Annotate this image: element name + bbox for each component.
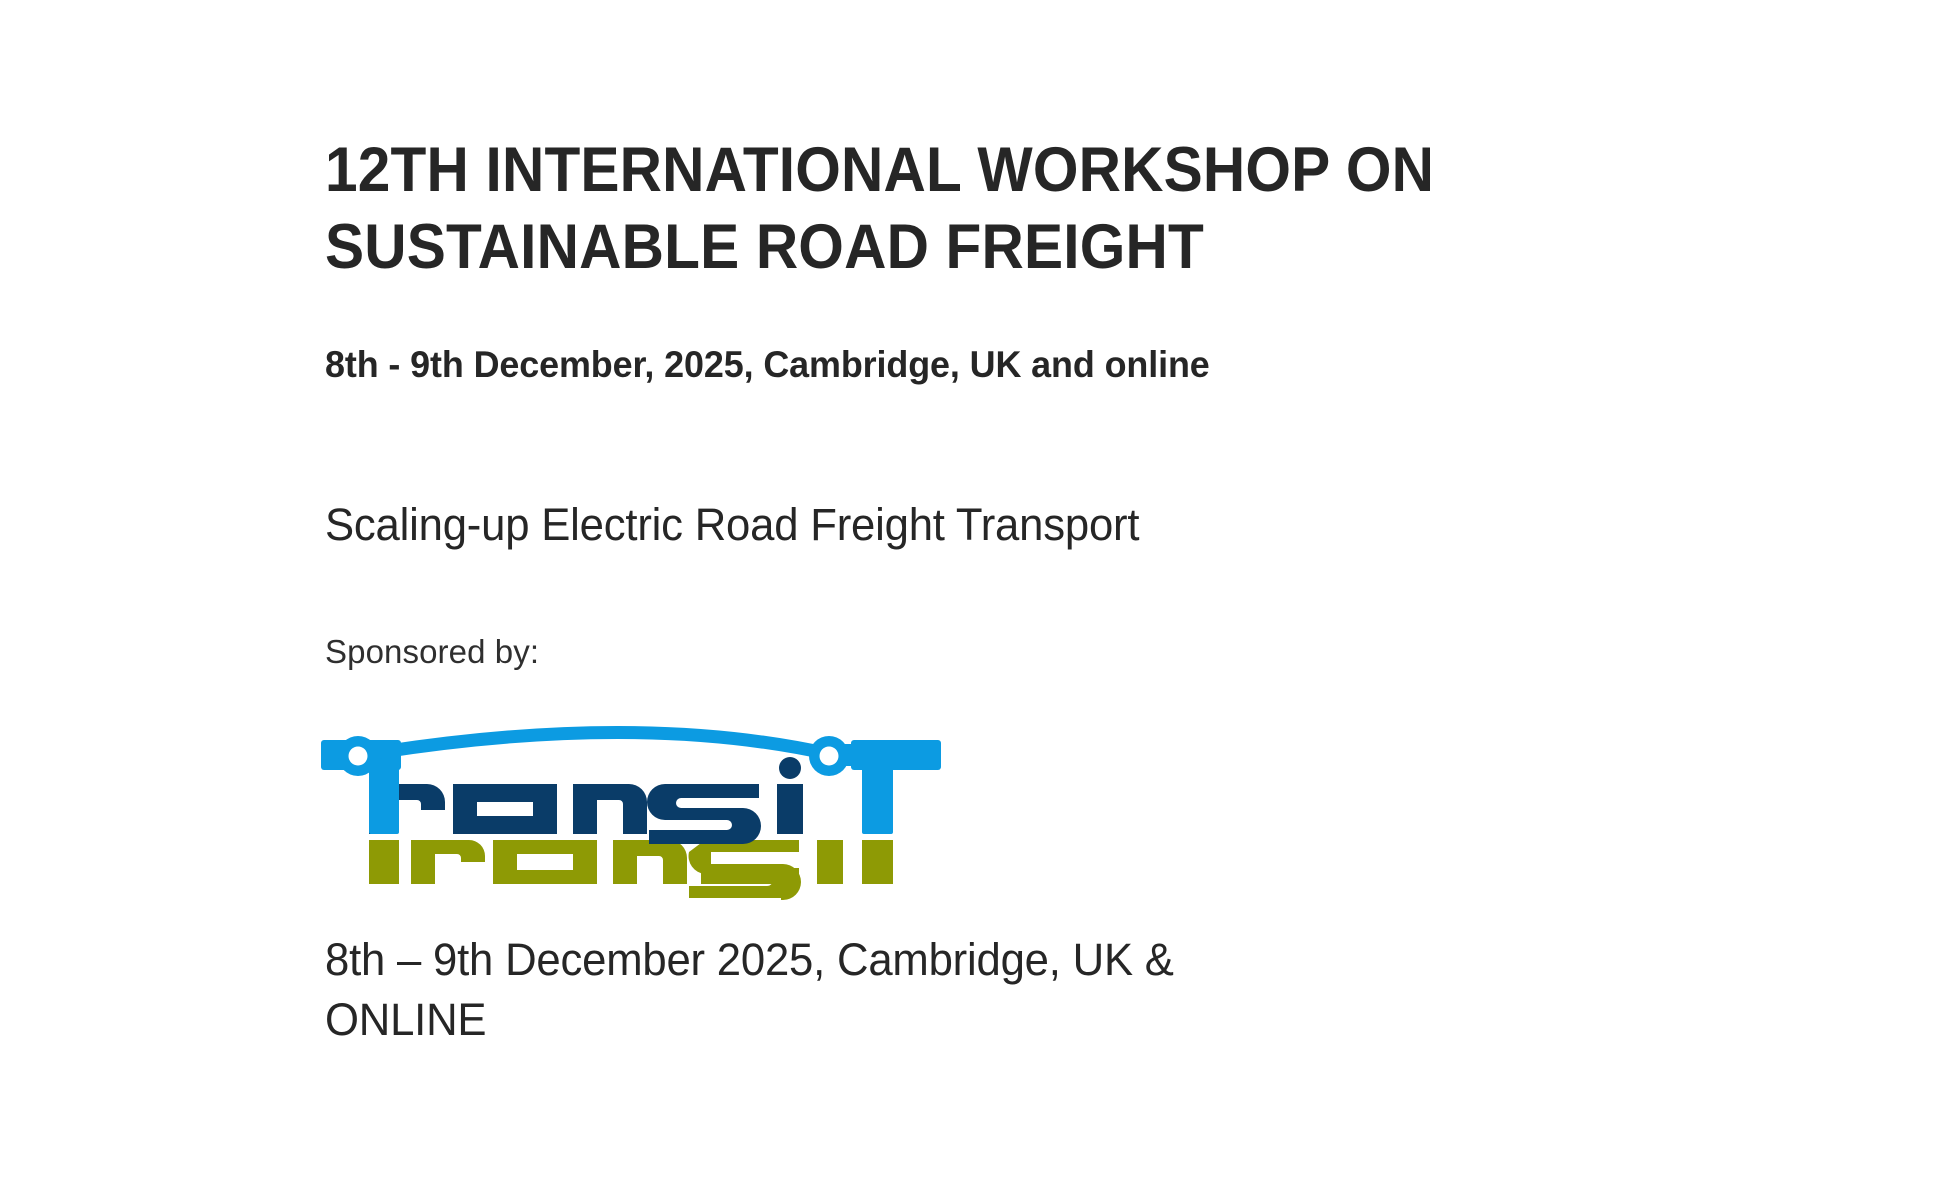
headline-block: 12TH INTERNATIONAL WORKSHOP ON SUSTAINAB… (325, 132, 1518, 286)
theme-block: Scaling-up Electric Road Freight Transpo… (325, 498, 1164, 552)
strapline-block: 8th - 9th December, 2025, Cambridge, UK … (325, 342, 1237, 388)
transit-logo (313, 718, 963, 900)
closing-block: 8th – 9th December 2025, Cambridge, UK &… (325, 930, 1200, 1050)
transit-logo-navy-letters (369, 757, 803, 844)
poster-page: 12TH INTERNATIONAL WORKSHOP ON SUSTAINAB… (0, 0, 1960, 1200)
sponsor-label-block: Sponsored by: (325, 632, 539, 672)
transit-logo-artwork (313, 718, 963, 900)
page-title: 12TH INTERNATIONAL WORKSHOP ON SUSTAINAB… (325, 132, 1434, 286)
transit-logo-olive-reflection (369, 840, 893, 900)
sponsored-by-label: Sponsored by: (325, 632, 539, 672)
event-date-location: 8th - 9th December, 2025, Cambridge, UK … (325, 342, 1210, 388)
closing-date-location: 8th – 9th December 2025, Cambridge, UK &… (325, 930, 1174, 1050)
event-theme: Scaling-up Electric Road Freight Transpo… (325, 498, 1139, 552)
